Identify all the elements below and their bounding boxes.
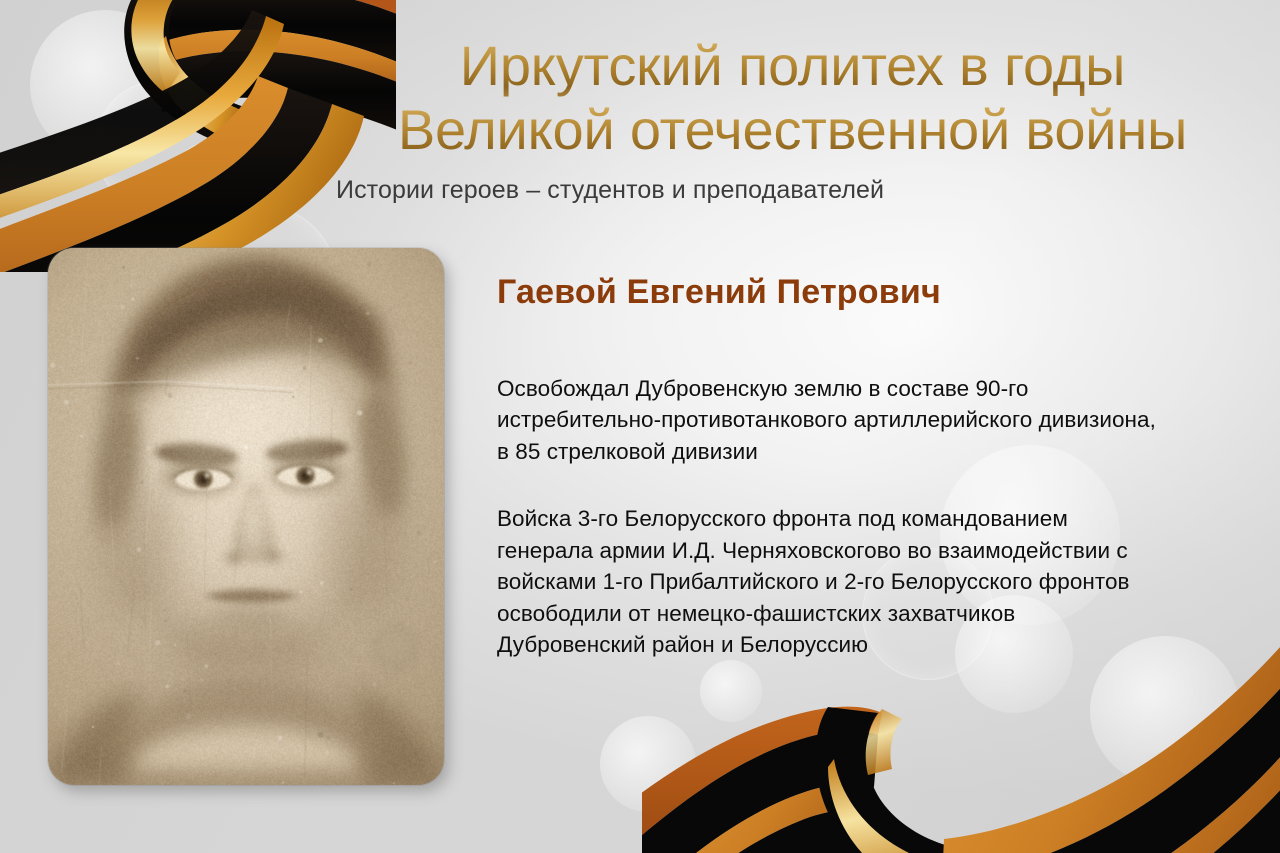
hero-portrait-photo [48, 248, 444, 785]
slide-header: Иркутский политех в годы Великой отечест… [330, 34, 1255, 205]
hero-content: Гаевой Евгений Петрович Освобождал Дубро… [497, 272, 1197, 661]
hero-photo-frame [48, 248, 444, 785]
hero-name: Гаевой Евгений Петрович [497, 272, 1197, 313]
slide-subtitle: Истории героев – студентов и преподавате… [330, 176, 1255, 205]
slide-title-line-2: Великой отечественной войны [330, 98, 1255, 162]
slide-title-line-1: Иркутский политех в годы [330, 34, 1255, 98]
hero-paragraph-2: Войска 3-го Белорусского фронта под кома… [497, 503, 1137, 661]
hero-paragraph-1: Освобождал Дубровенскую землю в составе … [497, 373, 1157, 468]
presentation-slide: Иркутский политех в годы Великой отечест… [0, 0, 1280, 853]
